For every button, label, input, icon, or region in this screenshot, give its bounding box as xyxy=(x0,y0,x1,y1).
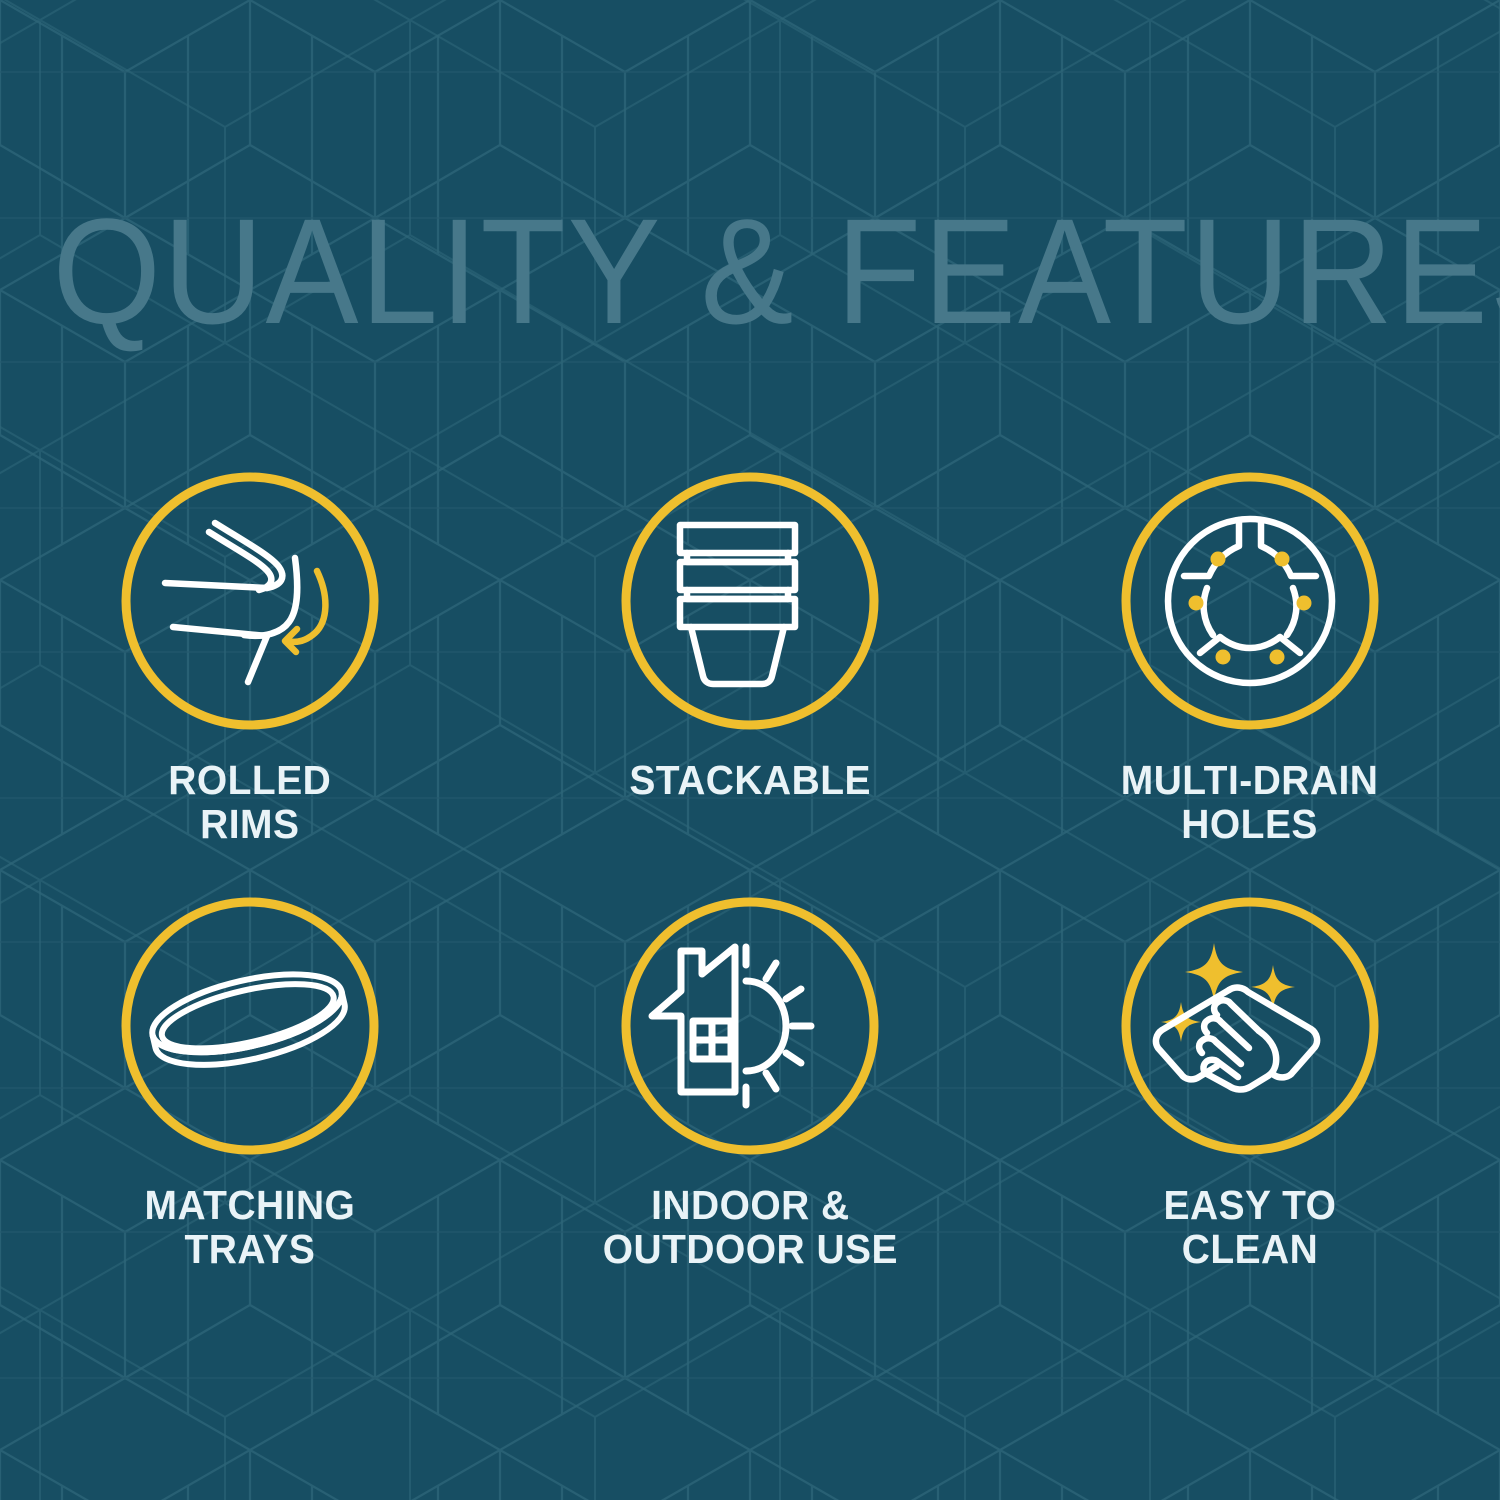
label-line-2: CLEAN xyxy=(1164,1227,1337,1271)
badge-ring xyxy=(1126,477,1374,725)
feature-label-multi-drain-holes: MULTI-DRAIN HOLES xyxy=(1121,758,1379,846)
sun-icon xyxy=(746,947,811,1105)
feature-stackable: STACKABLE xyxy=(500,470,1000,895)
feature-label-stackable: STACKABLE xyxy=(629,758,871,802)
label-line-2: TRAYS xyxy=(145,1227,356,1271)
hand-wiping-icon xyxy=(1156,988,1317,1090)
feature-grid: ROLLED RIMS xyxy=(0,470,1500,1320)
feature-indoor-outdoor-use: INDOOR & OUTDOOR USE xyxy=(500,895,1000,1320)
feature-multi-drain-holes: MULTI-DRAIN HOLES xyxy=(1000,470,1500,895)
badge-ring xyxy=(126,477,374,725)
badge-stackable xyxy=(619,470,881,732)
label-line-1: MATCHING xyxy=(145,1183,356,1227)
label-line-1: ROLLED xyxy=(169,758,332,802)
label-line-1: STACKABLE xyxy=(629,758,871,802)
badge-matching-trays xyxy=(119,895,381,1157)
badge-multi-drain-holes xyxy=(1119,470,1381,732)
feature-label-rolled-rims: ROLLED RIMS xyxy=(169,758,332,846)
label-line-2: HOLES xyxy=(1121,802,1379,846)
feature-matching-trays: MATCHING TRAYS xyxy=(0,895,500,1320)
label-line-1: INDOOR & xyxy=(602,1183,897,1227)
badge-rolled-rims xyxy=(119,470,381,732)
label-line-1: EASY TO xyxy=(1164,1183,1337,1227)
feature-label-matching-trays: MATCHING TRAYS xyxy=(145,1183,356,1271)
rolled-rim-icon xyxy=(165,523,297,682)
feature-label-indoor-outdoor-use: INDOOR & OUTDOOR USE xyxy=(602,1183,897,1271)
label-line-2: OUTDOOR USE xyxy=(602,1227,897,1271)
badge-indoor-outdoor-use xyxy=(619,895,881,1157)
stacked-pots-icon xyxy=(680,525,795,684)
page-title: QUALITY & FEATURES xyxy=(53,196,1448,346)
feature-easy-to-clean: EASY TO CLEAN xyxy=(1000,895,1500,1320)
badge-easy-to-clean xyxy=(1119,895,1381,1157)
label-line-1: MULTI-DRAIN xyxy=(1121,758,1379,802)
label-line-2: RIMS xyxy=(169,802,332,846)
feature-label-easy-to-clean: EASY TO CLEAN xyxy=(1164,1183,1337,1271)
badge-ring xyxy=(626,902,874,1150)
feature-rolled-rims: ROLLED RIMS xyxy=(0,470,500,895)
oval-tray-icon xyxy=(145,959,352,1080)
house-icon xyxy=(652,947,735,1092)
